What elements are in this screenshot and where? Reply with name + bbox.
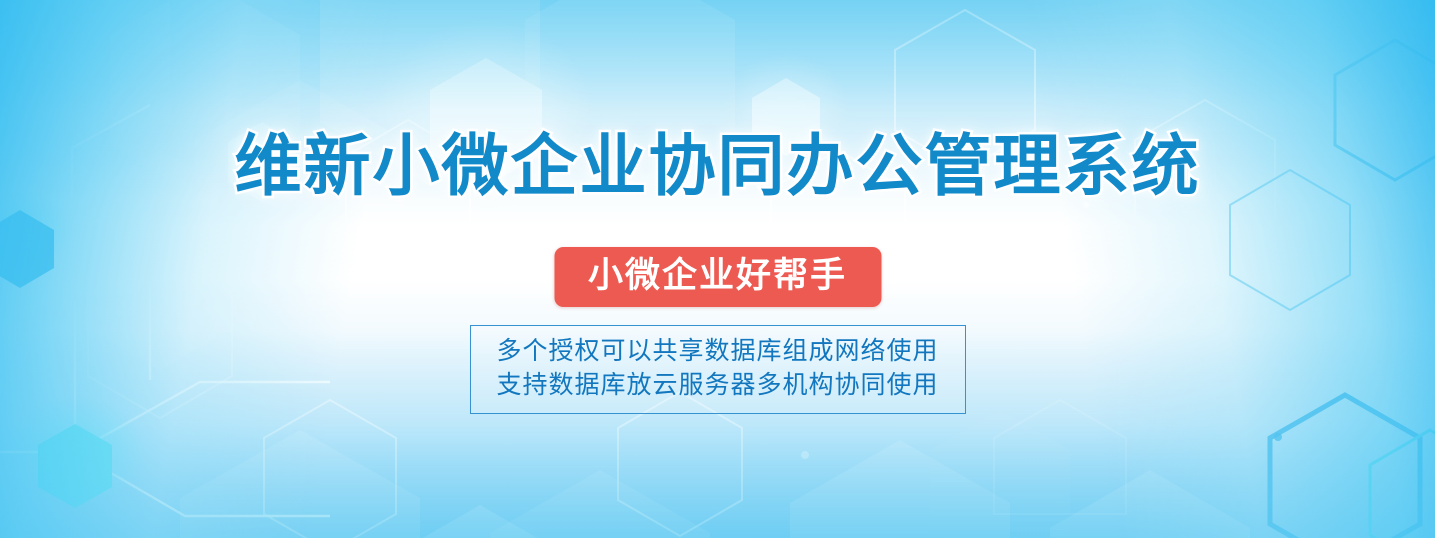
banner-content: 维新小微企业协同办公管理系统 小微企业好帮手 多个授权可以共享数据库组成网络使用… [0,0,1435,538]
feature-info-line-2: 支持数据库放云服务器多机构协同使用 [496,369,938,403]
banner-title: 维新小微企业协同办公管理系统 [0,132,1435,202]
feature-info-box: 多个授权可以共享数据库组成网络使用 支持数据库放云服务器多机构协同使用 [469,325,965,414]
hero-banner: 维新小微企业协同办公管理系统 小微企业好帮手 多个授权可以共享数据库组成网络使用… [0,0,1435,538]
tagline-badge: 小微企业好帮手 [554,247,881,307]
feature-info-line-1: 多个授权可以共享数据库组成网络使用 [496,335,938,369]
